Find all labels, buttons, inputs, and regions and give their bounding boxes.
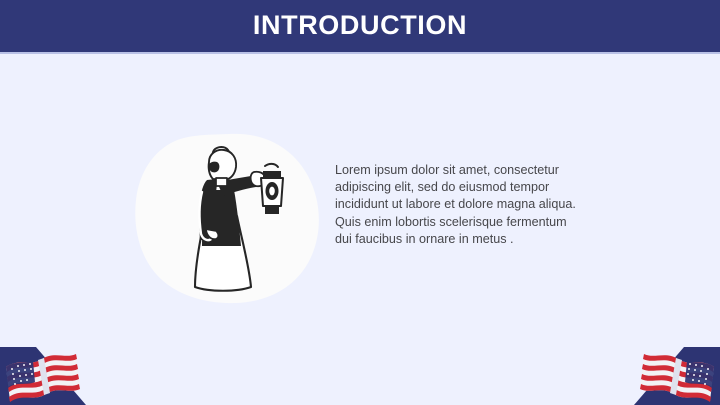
page-title: INTRODUCTION — [253, 12, 467, 39]
lantern-flame — [269, 187, 275, 196]
nurse-with-lantern-icon — [161, 144, 295, 292]
lantern-base — [265, 206, 279, 214]
flag-right-svg — [612, 337, 720, 405]
flag-left-svg — [0, 337, 108, 405]
collar — [216, 178, 227, 186]
lantern-top — [263, 171, 281, 178]
header-band: INTRODUCTION — [0, 0, 720, 52]
us-flag-bottom-left — [0, 337, 108, 405]
illustration-container — [133, 132, 323, 304]
body-paragraph: Lorem ipsum dolor sit amet, consectetur … — [335, 162, 583, 248]
us-flag-bottom-right — [612, 337, 720, 405]
lantern-handle — [265, 164, 278, 167]
slide-root: INTRODUCTION — [0, 0, 720, 405]
